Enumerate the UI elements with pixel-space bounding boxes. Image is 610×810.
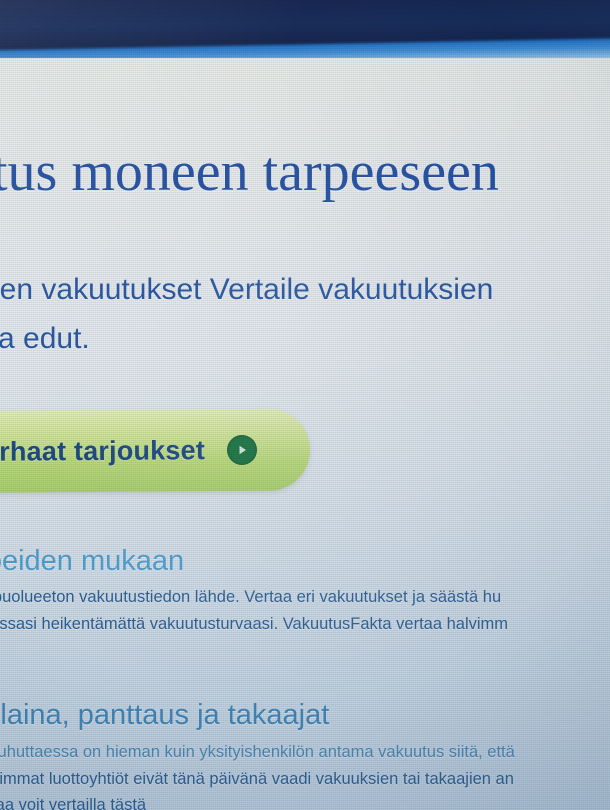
section-heading-2: ton laina, panttaus ja takaajat bbox=[0, 699, 610, 732]
section-paragraph-1-line-1: on puolueeton vakuutustiedon lähde. Vert… bbox=[0, 584, 610, 611]
nav-item-vakuutukset[interactable]: VAKUUTUKSET bbox=[235, 0, 400, 1]
best-offers-button[interactable]: arhaat tarjoukset bbox=[0, 409, 310, 494]
section-paragraph-1-line-2: uksissasi heikentämättä vakuutusturvaasi… bbox=[0, 611, 610, 638]
play-circle-icon bbox=[227, 435, 257, 465]
best-offers-button-label: arhaat tarjoukset bbox=[0, 435, 205, 468]
nav-item-vakuutusyhtiot[interactable]: AKUUTUSYHTIOT bbox=[0, 0, 163, 3]
page-title: utus moneen tarpeeseen bbox=[0, 144, 610, 200]
hero-subtitle: omen vakuutukset Vertaile vakuutuksien o… bbox=[0, 266, 610, 363]
section-paragraph-1: on puolueeton vakuutustiedon lähde. Vert… bbox=[0, 584, 610, 637]
section-paragraph-2-line-1: ta puhuttaessa on hieman kuin yksityishe… bbox=[0, 739, 610, 766]
hero-subtitle-line-1: omen vakuutukset Vertaile vakuutuksien bbox=[0, 273, 493, 306]
photographed-screen: AKUUTUSYHTIOT VAKUUTUKSET VA utus moneen… bbox=[0, 0, 610, 810]
section-paragraph-2-line-2: Useimmat luottoyhtiöt eivät tänä päivänä… bbox=[0, 766, 610, 793]
hero-subtitle-line-2: ot ja edut. bbox=[0, 315, 610, 364]
section-paragraph-2: ta puhuttaessa on hieman kuin yksityishe… bbox=[0, 739, 610, 810]
section-heading-1: tarpeiden mukaan bbox=[0, 545, 610, 578]
page-content: utus moneen tarpeeseen omen vakuutukset … bbox=[0, 58, 610, 810]
section-paragraph-2-line-3[interactable]: lainaa voit vertailla tästä bbox=[0, 792, 610, 810]
